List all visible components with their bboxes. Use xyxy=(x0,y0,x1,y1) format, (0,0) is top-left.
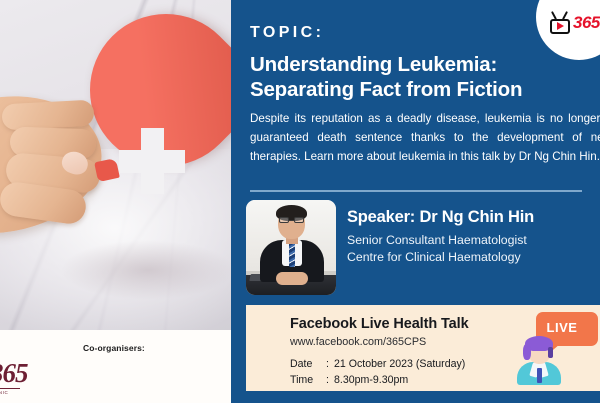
speaker-role-line-1: Senior Consultant Haematologist xyxy=(347,232,534,249)
speaker-role-line-2: Centre for Clinical Haematology xyxy=(347,249,534,266)
365live-logo-badge: 365Li xyxy=(536,0,600,60)
time-label: Time xyxy=(290,372,326,388)
365-logo-subtext: CLINIC xyxy=(0,390,8,395)
drop-shadow xyxy=(60,240,235,300)
365-logo-rule xyxy=(0,388,20,389)
speaker-photo xyxy=(246,200,336,295)
date-value: 21 October 2023 (Saturday) xyxy=(334,356,465,372)
365live-wordmark: 365Li xyxy=(573,13,600,33)
bottom-blue-bar xyxy=(237,391,600,403)
event-datetime: Date : 21 October 2023 (Saturday) Time :… xyxy=(290,356,465,389)
live-badge: LIVE xyxy=(532,320,592,335)
365-logo-number: 365 xyxy=(0,358,28,389)
time-value: 8.30pm-9.30pm xyxy=(334,372,408,388)
page-title: Understanding Leukemia: Separating Fact … xyxy=(250,52,590,102)
health-talk-poster: iser: Co-organisers: 365 CLINIC AstraZen… xyxy=(0,0,600,403)
365-clinic-logo: 365 CLINIC xyxy=(0,361,24,395)
topic-description: Despite its reputation as a deadly disea… xyxy=(250,110,600,166)
finger-index xyxy=(1,100,94,131)
content-panel: 365Li TOPIC: Understanding Leukemia: Sep… xyxy=(237,0,600,403)
date-separator: : xyxy=(326,356,334,372)
presenter-avatar-icon xyxy=(514,335,564,385)
white-cross-cutout xyxy=(119,128,185,194)
event-time-row: Time : 8.30pm-9.30pm xyxy=(290,372,465,388)
event-date-row: Date : 21 October 2023 (Saturday) xyxy=(290,356,465,372)
section-divider xyxy=(250,190,582,192)
date-label: Date xyxy=(290,356,326,372)
time-separator: : xyxy=(326,372,334,388)
title-line-1: Understanding Leukemia: xyxy=(250,52,590,77)
title-line-2: Separating Fact from Fiction xyxy=(250,77,590,102)
co-organisers-label: Co-organisers: xyxy=(83,343,145,353)
event-url[interactable]: www.facebook.com/365CPS xyxy=(290,336,426,348)
event-details-card: Facebook Live Health Talk www.facebook.c… xyxy=(246,305,600,391)
tv-play-icon xyxy=(550,12,570,34)
live-illustration: LIVE xyxy=(510,309,596,387)
speaker-role: Senior Consultant Haematologist Centre f… xyxy=(347,232,534,267)
speaker-name: Speaker: Dr Ng Chin Hin xyxy=(347,208,534,227)
speaker-block: Speaker: Dr Ng Chin Hin Senior Consultan… xyxy=(246,200,596,296)
event-title: Facebook Live Health Talk xyxy=(290,316,469,332)
speaker-details: Speaker: Dr Ng Chin Hin Senior Consultan… xyxy=(347,208,534,267)
organisers-strip: iser: Co-organisers: 365 CLINIC AstraZen… xyxy=(0,330,237,403)
blood-drop-photo xyxy=(0,0,237,330)
topic-kicker: TOPIC: xyxy=(250,24,324,42)
